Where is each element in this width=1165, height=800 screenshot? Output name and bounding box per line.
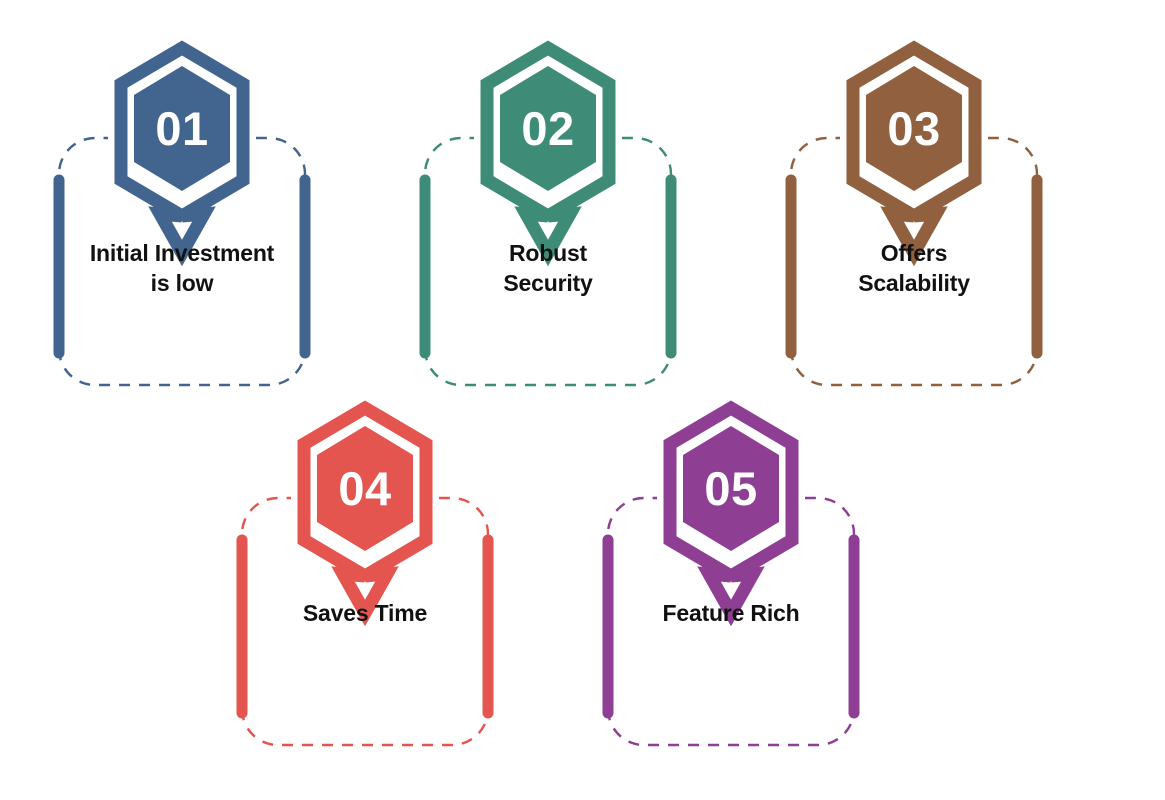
card-initial-investment[interactable]: 01Initial Investment is low: [32, 40, 332, 380]
card-title-label: Initial Investment is low: [50, 238, 314, 299]
card-title-label: Offers Scalability: [782, 238, 1046, 299]
card-step-number: 04: [338, 462, 391, 515]
card-robust-security[interactable]: 02Robust Security: [398, 40, 698, 380]
infographic-canvas: 01Initial Investment is low02Robust Secu…: [0, 0, 1165, 800]
card-title-label: Saves Time: [233, 598, 497, 628]
card-step-number: 03: [887, 102, 940, 155]
card-step-number: 05: [704, 462, 757, 515]
card-saves-time[interactable]: 04Saves Time: [215, 400, 515, 740]
card-title-label: Feature Rich: [599, 598, 863, 628]
card-step-number: 02: [521, 102, 574, 155]
card-offers-scalability[interactable]: 03Offers Scalability: [764, 40, 1064, 380]
card-title-label: Robust Security: [416, 238, 680, 299]
card-feature-rich[interactable]: 05Feature Rich: [581, 400, 881, 740]
card-step-number: 01: [155, 102, 208, 155]
